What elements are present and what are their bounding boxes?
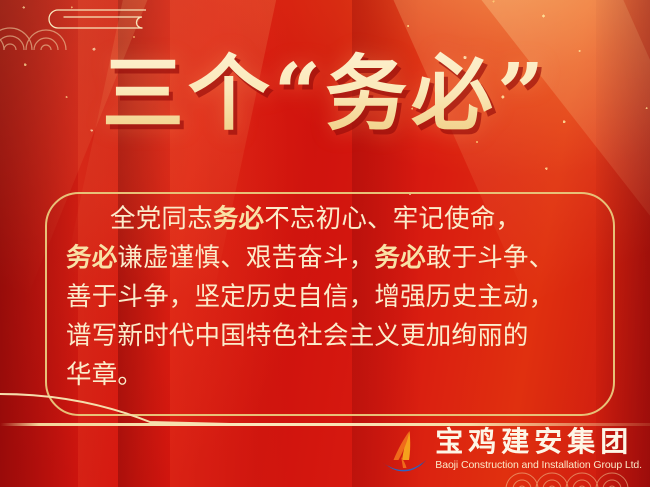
logo-name-en: Baoji Construction and Installation Grou… [435,458,642,472]
quote-run: 善于斗争，坚定历史自信，增强历史主动， [66,282,554,312]
quote-run: 谱写新时代中国特色社会主义更加绚丽的 [66,321,529,351]
scroll-line-ornament-icon [42,6,146,36]
poster-canvas: 三个“务必” 全党同志务必不忘初心、牢记使命，务必谦虚谨慎、艰苦奋斗，务必敢于斗… [0,0,650,487]
sail-boat-logo-icon [379,429,429,477]
quote-line: 全党同志务必不忘初心、牢记使命， [66,200,602,239]
quote-emphasis: 务必 [213,204,264,234]
quote-emphasis: 务必 [66,243,117,273]
logo-text-group: 宝鸡建安集团 Baoji Construction and Installati… [435,427,642,472]
quote-run: 华章。 [66,360,143,390]
quote-emphasis: 务必 [374,243,425,273]
quote-run: 不忘初心、牢记使命， [264,204,521,234]
logo-name-cn: 宝鸡建安集团 [435,427,642,457]
quote-text: 全党同志务必不忘初心、牢记使命，务必谦虚谨慎、艰苦奋斗，务必敢于斗争、善于斗争，… [66,200,602,395]
quote-line: 谱写新时代中国特色社会主义更加绚丽的 [66,317,602,356]
page-title: 三个“务必” [0,38,650,150]
quote-run: 全党同志 [110,204,213,234]
quote-run: 谦虚谨慎、艰苦奋斗， [117,243,374,273]
quote-line: 善于斗争，坚定历史自信，增强历史主动， [66,278,602,317]
quote-line: 务必谦虚谨慎、艰苦奋斗，务必敢于斗争、 [66,239,602,278]
quote-line: 华章。 [66,356,602,395]
quote-run: 敢于斗争、 [426,243,555,273]
company-logo: 宝鸡建安集团 Baoji Construction and Installati… [379,427,642,481]
